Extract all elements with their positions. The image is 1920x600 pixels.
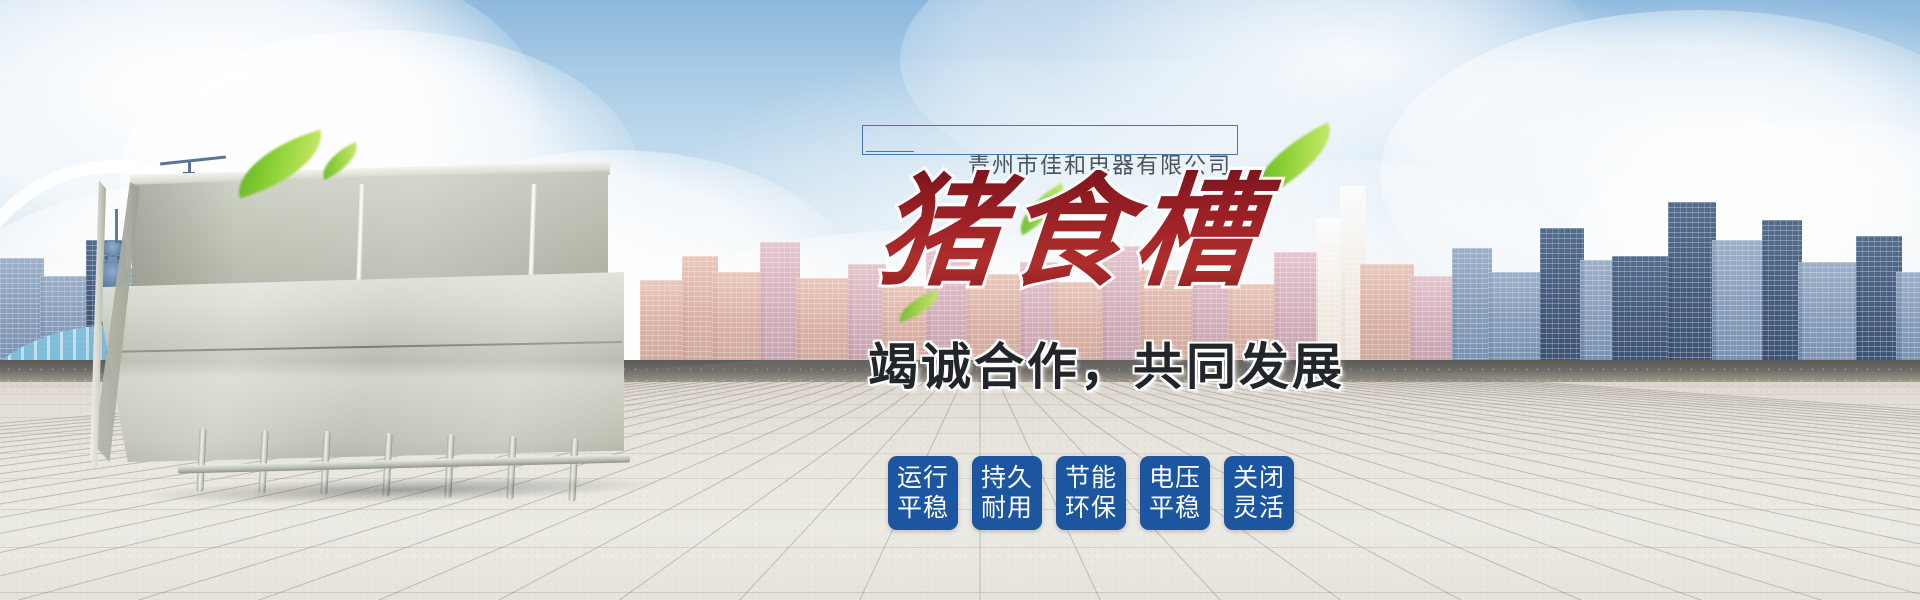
banner-content: 青州市佳和电器有限公司 猪食槽 猪食槽 竭诚合作，共同发展 运行平稳持久耐用节能… (0, 0, 1920, 600)
feature-badge-2[interactable]: 持久耐用 (972, 456, 1042, 530)
feature-badge-line2: 平稳 (897, 493, 949, 523)
feature-badge-3[interactable]: 节能环保 (1056, 456, 1126, 530)
feature-badge-list: 运行平稳持久耐用节能环保电压平稳关闭灵活 (888, 456, 1294, 530)
feature-badge-line2: 耐用 (981, 493, 1033, 523)
feature-badge-5[interactable]: 关闭灵活 (1224, 456, 1294, 530)
feature-badge-line2: 环保 (1065, 493, 1117, 523)
page-title: 猪食槽 (872, 170, 1303, 300)
feature-badge-4[interactable]: 电压平稳 (1140, 456, 1210, 530)
page-subtitle: 竭诚合作，共同发展 (868, 342, 1345, 392)
feature-badge-line1: 持久 (981, 463, 1033, 493)
feature-badge-line2: 灵活 (1233, 493, 1285, 523)
feature-badge-line1: 电压 (1149, 463, 1201, 493)
feature-badge-line2: 平稳 (1149, 493, 1201, 523)
promotional-banner: 青州市佳和电器有限公司 猪食槽 猪食槽 竭诚合作，共同发展 运行平稳持久耐用节能… (0, 0, 1920, 600)
feature-badge-line1: 节能 (1065, 463, 1117, 493)
feature-badge-1[interactable]: 运行平稳 (888, 456, 958, 530)
feature-badge-line1: 关闭 (1233, 463, 1285, 493)
feature-badge-line1: 运行 (897, 463, 949, 493)
